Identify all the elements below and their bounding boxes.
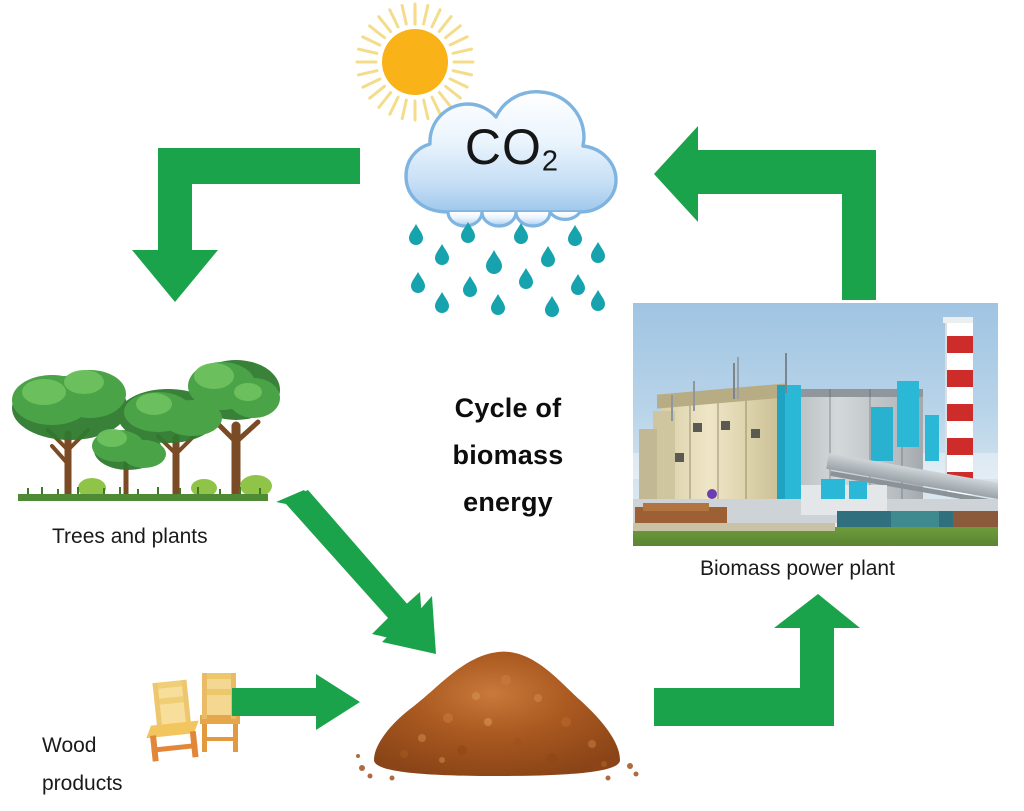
arrow-biomass-to-plant [652, 598, 882, 733]
trees-icon [8, 338, 280, 510]
rain-drops-icon [398, 216, 608, 316]
power-plant-label: Biomass power plant [700, 554, 895, 584]
trees-label: Trees and plants [52, 522, 208, 552]
sawdust-pile-icon [352, 618, 642, 790]
title-line-1: Cycle of [398, 385, 618, 432]
co2-formula-label: CO2 [386, 118, 638, 178]
wood-products-label: Wood products [42, 727, 123, 803]
wood-products-line-1: Wood [42, 727, 123, 765]
co2-subscript: 2 [542, 145, 559, 177]
co2-cloud-icon: CO2 [386, 86, 638, 226]
title-line-2: biomass [398, 432, 618, 479]
power-plant-photo [633, 303, 998, 546]
arrow-co2-to-trees [130, 140, 360, 310]
co2-main: CO [465, 119, 542, 175]
arrow-plant-to-co2 [656, 132, 876, 302]
arrow-wood-to-biomass [232, 676, 364, 738]
wood-products-line-2: products [42, 765, 123, 803]
biomass-cycle-diagram: CO2 [0, 0, 1024, 811]
